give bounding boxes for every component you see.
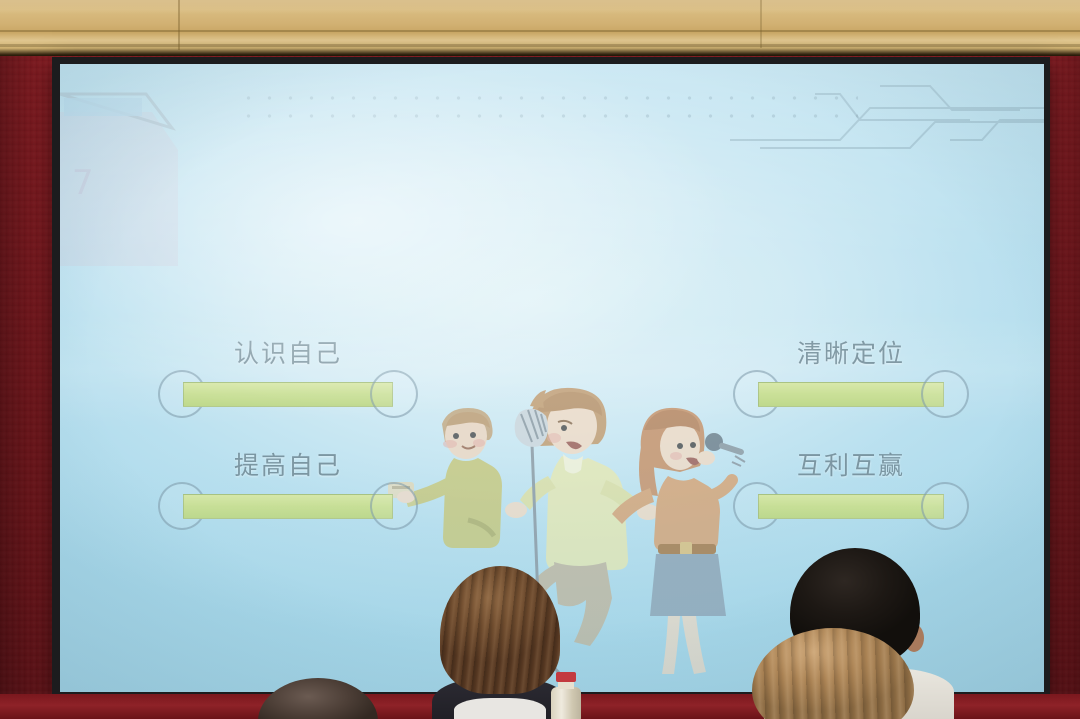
projection-screen-surface: 7: [60, 64, 1044, 692]
slide-item-bar-0: [183, 382, 393, 407]
slide-item-bar-1: [758, 382, 944, 407]
slide-item-cap-right-2: [370, 482, 418, 530]
slide-item-2[interactable]: 提高自己: [158, 476, 418, 536]
slide-item-0[interactable]: 认识自己: [158, 364, 418, 424]
man-singer-figure: [505, 388, 659, 678]
ceiling-valance: [0, 0, 1080, 56]
slide-item-1[interactable]: 清晰定位: [733, 364, 969, 424]
three-singers-illustration: [380, 384, 760, 684]
valance-seam-horizontal-2: [0, 44, 1080, 47]
corner-graphic-decoration: 7: [60, 76, 190, 266]
slide-item-label-1: 清晰定位: [733, 334, 969, 370]
valance-seam-vertical-2: [760, 0, 762, 48]
woman-singer-figure: [612, 408, 745, 674]
slide-item-label-2: 提高自己: [158, 446, 418, 482]
svg-text:7: 7: [72, 163, 94, 203]
slide-item-bar-2: [183, 494, 393, 519]
valance-highlight: [0, 0, 1080, 14]
valance-seam-horizontal-1: [0, 30, 1080, 32]
slide-item-label-3: 互利互赢: [733, 446, 969, 482]
presentation-slide: 7: [60, 64, 1044, 692]
presentation-room-scene: 7: [0, 0, 1080, 719]
slide-item-3[interactable]: 互利互赢: [733, 476, 969, 536]
slide-item-bar-3: [758, 494, 944, 519]
slide-item-cap-right-3: [921, 482, 969, 530]
slide-item-label-0: 认识自己: [158, 334, 418, 370]
slide-item-cap-right-1: [921, 370, 969, 418]
circuit-line-decoration: [720, 80, 1044, 150]
vintage-microphone: [515, 409, 548, 447]
valance-seam-vertical-1: [178, 0, 180, 50]
slide-item-cap-right-0: [370, 370, 418, 418]
